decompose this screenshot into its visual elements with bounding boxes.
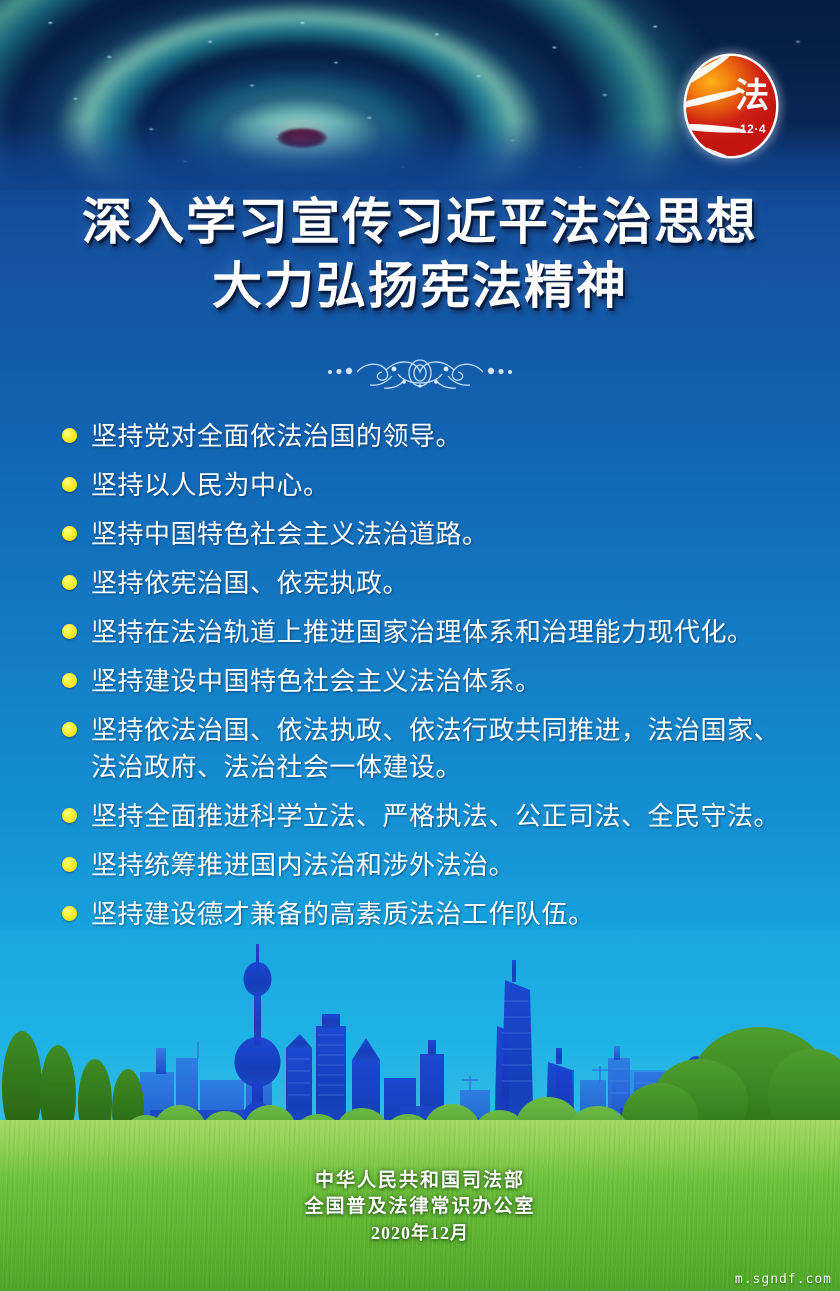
bullet-dot-icon <box>62 857 77 872</box>
list-item: 坚持在法治轨道上推进国家治理体系和治理能力现代化。 <box>62 614 792 651</box>
bullet-dot-icon <box>62 808 77 823</box>
logo-fa-character: 法 <box>735 80 769 114</box>
footer-line-ministry: 中华人民共和国司法部 <box>0 1168 840 1194</box>
footer-line-date: 2020年12月 <box>0 1220 840 1246</box>
list-item-text: 坚持建设德才兼备的高素质法治工作队伍。 <box>91 896 595 933</box>
list-item: 坚持以人民为中心。 <box>62 467 792 504</box>
list-item-text: 坚持依宪治国、依宪执政。 <box>91 565 409 602</box>
poster-footer: 中华人民共和国司法部 全国普及法律常识办公室 2020年12月 <box>0 1168 840 1246</box>
principles-list: 坚持党对全面依法治国的领导。 坚持以人民为中心。 坚持中国特色社会主义法治道路。… <box>62 418 792 994</box>
bullet-dot-icon <box>62 722 77 737</box>
bullet-dot-icon <box>62 428 77 443</box>
list-item: 坚持建设德才兼备的高素质法治工作队伍。 <box>62 896 792 933</box>
watermark-url: m.sgndf.com <box>735 1272 832 1287</box>
logo-container: 法 12·4 <box>686 56 776 156</box>
list-item-text: 坚持中国特色社会主义法治道路。 <box>91 516 489 553</box>
ornamental-divider <box>0 352 840 392</box>
title-line-2: 大力弘扬宪法精神 <box>0 254 840 318</box>
bullet-dot-icon <box>62 526 77 541</box>
bullet-dot-icon <box>62 673 77 688</box>
list-item-text: 坚持依法治国、依法执政、依法行政共同推进，法治国家、法治政府、法治社会一体建设。 <box>91 712 792 786</box>
list-item: 坚持党对全面依法治国的领导。 <box>62 418 792 455</box>
poster-title: 深入学习宣传习近平法治思想 大力弘扬宪法精神 <box>0 190 840 318</box>
list-item-text: 坚持以人民为中心。 <box>91 467 330 504</box>
list-item-text: 坚持在法治轨道上推进国家治理体系和治理能力现代化。 <box>91 614 754 651</box>
footer-line-office: 全国普及法律常识办公室 <box>0 1194 840 1220</box>
list-item-text: 坚持党对全面依法治国的领导。 <box>91 418 462 455</box>
list-item: 坚持依宪治国、依宪执政。 <box>62 565 792 602</box>
list-item-text: 坚持建设中国特色社会主义法治体系。 <box>91 663 542 700</box>
list-item: 坚持全面推进科学立法、严格执法、公正司法、全民守法。 <box>62 798 792 835</box>
logo-date-text: 12·4 <box>740 122 766 136</box>
list-item: 坚持中国特色社会主义法治道路。 <box>62 516 792 553</box>
legal-publicity-logo-icon: 法 12·4 <box>686 56 776 156</box>
title-line-1: 深入学习宣传习近平法治思想 <box>0 190 840 254</box>
bullet-dot-icon <box>62 906 77 921</box>
bullet-dot-icon <box>62 624 77 639</box>
list-item: 坚持依法治国、依法执政、依法行政共同推进，法治国家、法治政府、法治社会一体建设。 <box>62 712 792 786</box>
bullet-dot-icon <box>62 477 77 492</box>
list-item: 坚持建设中国特色社会主义法治体系。 <box>62 663 792 700</box>
list-item-text: 坚持全面推进科学立法、严格执法、公正司法、全民守法。 <box>91 798 780 835</box>
list-item: 坚持统筹推进国内法治和涉外法治。 <box>62 847 792 884</box>
logo-stripe <box>686 122 746 134</box>
list-item-text: 坚持统筹推进国内法治和涉外法治。 <box>91 847 515 884</box>
poster-root: 法 12·4 深入学习宣传习近平法治思想 大力弘扬宪法精神 <box>0 0 840 1291</box>
bullet-dot-icon <box>62 575 77 590</box>
